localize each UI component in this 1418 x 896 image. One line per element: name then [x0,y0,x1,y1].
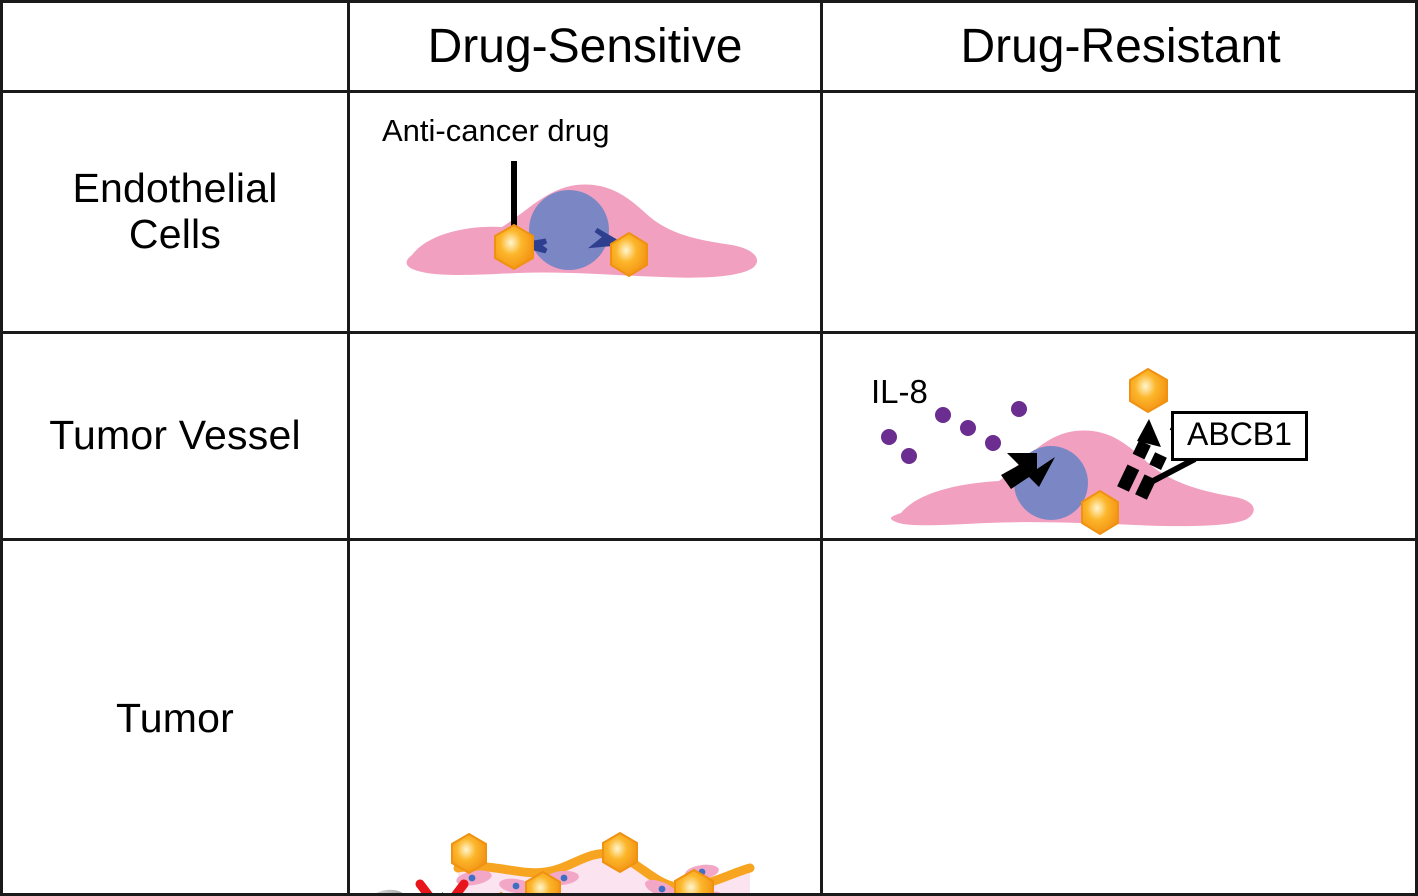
il8-dot [985,435,1001,451]
il8-dot [960,420,976,436]
figure-root: Drug-Sensitive Drug-Resistant Endothelia… [0,0,1418,896]
panel-endothelial-resistant: IL-8 ABCB1 [823,331,1418,569]
rowlabel-endothelial-line1: Endothelial [72,166,277,212]
anti-cancer-drug-label: Anti-cancer drug [382,113,609,149]
header-drug-sensitive-label: Drug-Sensitive [428,19,743,74]
drug-hexagon-expelled [1130,369,1167,412]
header-corner-cell [3,3,347,90]
drug-hexagon-1 [495,225,533,269]
rowlabel-endothelial-line2: Cells [72,212,277,258]
il8-label: IL-8 [871,373,928,411]
il8-dot [935,407,951,423]
drug-hexagon [452,834,486,873]
vessel-sensitive-graphic [350,810,820,896]
header-drug-resistant: Drug-Resistant [823,3,1418,90]
header-drug-sensitive: Drug-Sensitive [350,3,820,90]
rowlabel-tumor-text: Tumor [116,696,234,742]
blocked-x-icon [420,884,464,896]
panel-endothelial-sensitive: Anti-cancer drug [350,93,820,331]
rowlabel-tumor-vessel-text: Tumor Vessel [49,413,301,459]
rowlabel-tumor: Tumor [3,541,347,896]
tumor-cell-outside [363,890,412,896]
panel-vessel-sensitive [350,810,820,896]
il8-dot [881,429,897,445]
abcb1-label: ABCB1 [1171,411,1308,461]
il8-dot [1011,401,1027,417]
rowlabel-tumor-vessel: Tumor Vessel [3,334,347,538]
header-drug-resistant-label: Drug-Resistant [960,19,1280,74]
rowlabel-endothelial-cells: Endothelial Cells [3,93,347,331]
il8-dot [901,448,917,464]
endothelial-resistant-graphic [823,331,1418,569]
drug-hexagon [603,833,637,872]
